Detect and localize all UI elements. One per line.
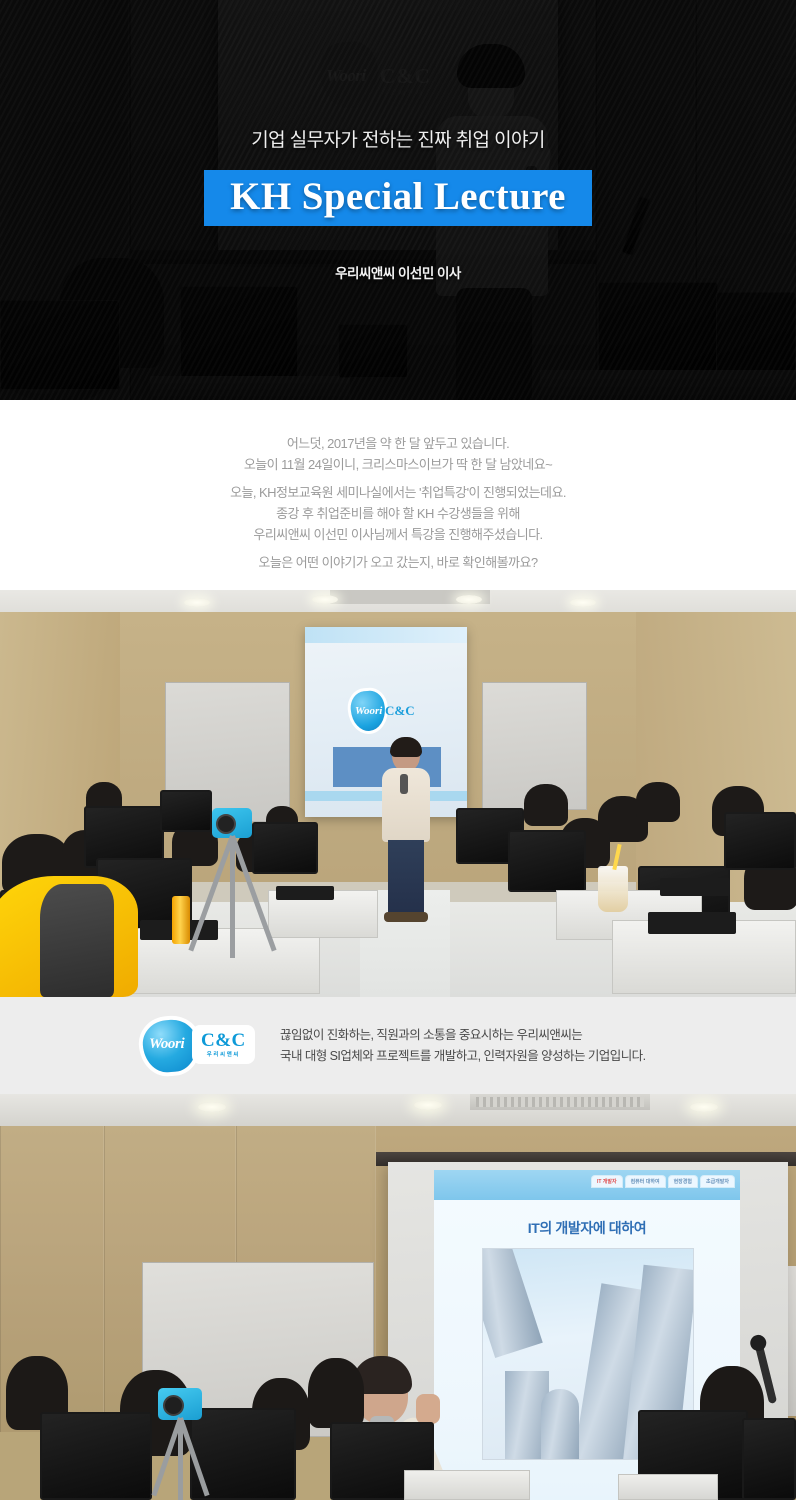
band-logo-suffix: C&C	[201, 1030, 246, 1051]
tripod-leg	[178, 1418, 183, 1500]
slide-tab: IT 개발자	[592, 1176, 622, 1187]
ceiling-light	[312, 595, 338, 604]
woori-cnc-logo: Woori C&C 우리씨앤씨	[143, 1018, 251, 1074]
camera-tripod	[140, 1388, 220, 1500]
intro-line: 오늘은 어떤 이야기가 오고 갔는지, 바로 확인해볼까요?	[258, 552, 537, 573]
hero-title-banner: KH Special Lecture	[204, 170, 592, 226]
camera-tripod	[196, 808, 270, 958]
monitor	[742, 1418, 796, 1500]
lecturer-figure	[378, 740, 434, 920]
ceiling-light	[456, 595, 482, 604]
company-band: Woori C&C 우리씨앤씨 끊임없이 진화하는, 직원과의 소통을 중요시하…	[0, 997, 796, 1094]
slide-tab: 현장경험	[669, 1176, 697, 1187]
iced-coffee-cup	[598, 866, 628, 912]
slide-tab-list: IT 개발자 컴퓨터 대하여 현장경험 초급개발자	[592, 1176, 734, 1187]
keyboard	[660, 878, 730, 896]
lecturer-hair	[390, 737, 422, 757]
monitor	[724, 812, 796, 870]
article-page: Woori C&C 우리씨앤씨	[0, 0, 796, 1500]
tripod-leg	[188, 835, 234, 951]
desk	[618, 1474, 718, 1500]
desk	[404, 1470, 530, 1500]
photo-classroom-wide: Woori C&C	[0, 590, 796, 997]
camera-icon	[212, 808, 252, 838]
student-yellow-jacket	[0, 876, 138, 997]
intro-line: 오늘이 11월 24일이니, 크리스마스이브가 딱 한 달 남았네요~	[244, 454, 552, 475]
photo-lecture-slide: IT 개발자 컴퓨터 대하여 현장경험 초급개발자 IT의 개발자에 대하여	[0, 1094, 796, 1500]
intro-section: 어느덧, 2017년을 약 한 달 앞두고 있습니다. 오늘이 11월 24일이…	[0, 400, 796, 590]
camera-icon	[158, 1388, 202, 1420]
ceiling-light	[184, 598, 210, 607]
monitor	[508, 830, 586, 892]
intro-line: 종강 후 취업준비를 해야 할 KH 수강생들을 위해	[276, 503, 520, 524]
ceiling-light	[198, 1102, 226, 1112]
slide-logo-suffix: C&C	[385, 703, 415, 719]
band-logo-korean: 우리씨앤씨	[201, 1050, 246, 1058]
ceiling-light	[570, 598, 596, 607]
slide-title: IT의 개발자에 대하여	[434, 1218, 740, 1238]
tripod-leg	[230, 835, 276, 951]
student-head	[524, 784, 568, 826]
hero-header: Woori C&C 우리씨앤씨	[0, 0, 796, 400]
intro-line: 어느덧, 2017년을 약 한 달 앞두고 있습니다.	[287, 433, 509, 454]
lecturer-shoes	[384, 912, 428, 922]
slide-tab: 초급개발자	[701, 1176, 734, 1187]
foreground-students	[0, 1388, 796, 1500]
company-line: 끊임없이 진화하는, 직원과의 소통을 중요시하는 우리씨앤씨는	[280, 1025, 646, 1046]
keyboard	[648, 912, 736, 934]
tripod-leg	[230, 836, 235, 958]
keyboard	[276, 886, 334, 900]
hero-speaker: 우리씨앤씨 이선민 이사	[335, 262, 461, 282]
student-head	[636, 782, 680, 822]
drink-can	[172, 896, 190, 944]
ceiling-vent	[470, 1094, 650, 1110]
band-logo-badge: C&C 우리씨앤씨	[195, 1028, 252, 1061]
intro-line: 우리씨앤씨 이선민 이사님께서 특강을 진행해주셨습니다.	[253, 524, 542, 545]
building	[482, 1248, 543, 1358]
intro-line: 오늘, KH정보교육원 세미나실에서는 '취업특강'이 진행되었는데요.	[230, 482, 566, 503]
student-head	[308, 1358, 364, 1428]
ceiling	[0, 1094, 796, 1126]
lecturer-legs	[388, 840, 424, 916]
page-title: KH Special Lecture	[230, 177, 566, 216]
ceiling-light	[414, 1100, 442, 1110]
slide-logo-brand: Woori	[355, 705, 382, 717]
hero-kicker: 기업 실무자가 전하는 진짜 취업 이야기	[251, 125, 544, 152]
ceiling-light	[690, 1102, 718, 1112]
slide-tab: 컴퓨터 대하여	[626, 1176, 665, 1187]
company-line: 국내 대형 SI업체와 프로젝트를 개발하고, 인력자원을 양성하는 기업입니다…	[280, 1046, 646, 1067]
slide-header-bar	[305, 627, 467, 643]
monitor	[40, 1412, 152, 1500]
microphone-icon	[400, 774, 408, 794]
hero-copy: 기업 실무자가 전하는 진짜 취업 이야기 KH Special Lecture…	[0, 0, 796, 400]
company-description: 끊임없이 진화하는, 직원과의 소통을 중요시하는 우리씨앤씨는 국내 대형 S…	[280, 1025, 646, 1067]
band-logo-brand: Woori	[149, 1036, 184, 1053]
